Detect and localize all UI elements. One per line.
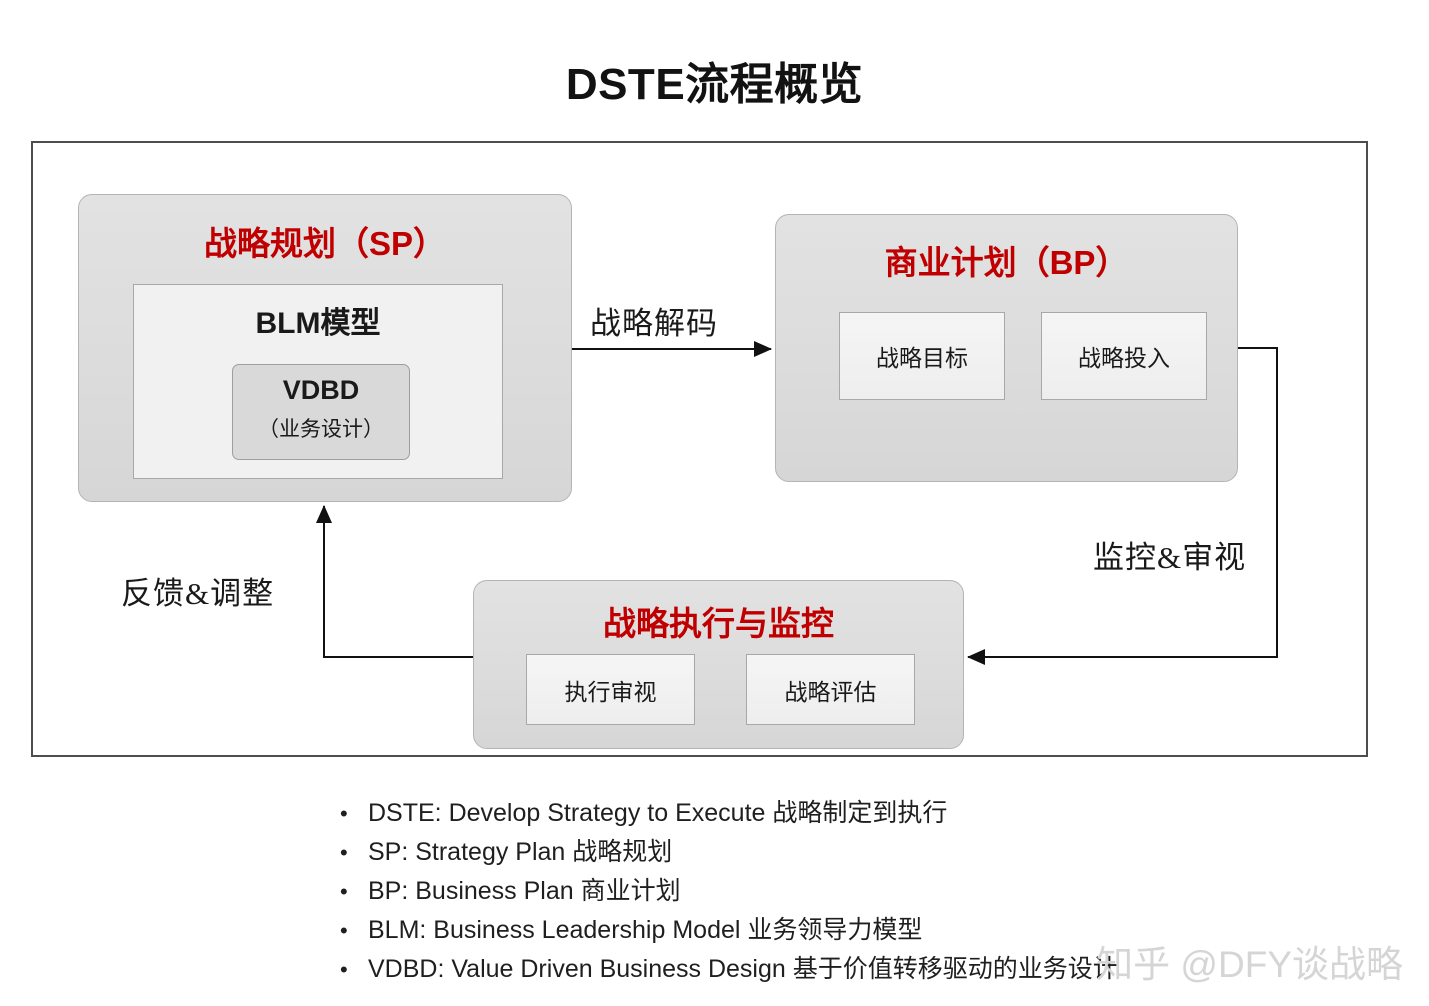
page-title: DSTE流程概览 xyxy=(0,48,1429,112)
blm-model-label: BLM模型 xyxy=(134,298,502,342)
legend-bullet-icon: • xyxy=(340,951,368,989)
connector-label-monitor-review: 监控&审视 xyxy=(1093,532,1246,577)
connector-label-feedback-adjust: 反馈&调整 xyxy=(121,568,274,613)
watermark: 知乎 @DFY谈战略 xyxy=(1096,934,1403,988)
box-strategy-planning[interactable]: 战略规划（SP） BLM模型 VDBD （业务设计） xyxy=(78,194,572,502)
connector-label-strategy-decoding: 战略解码 xyxy=(590,298,718,343)
box-sp-title: 战略规划（SP） xyxy=(79,217,571,265)
box-strategy-execution-monitoring[interactable]: 战略执行与监控 执行审视 战略评估 xyxy=(473,580,964,749)
legend-bullet-icon: • xyxy=(340,834,368,872)
box-exec-title: 战略执行与监控 xyxy=(474,597,963,645)
vdbd-sublabel: （业务设计） xyxy=(233,413,409,443)
legend-bullet-icon: • xyxy=(340,912,368,950)
box-blm-model[interactable]: BLM模型 VDBD （业务设计） xyxy=(133,284,503,479)
arrow-exec-to-sp xyxy=(324,506,473,657)
legend-item-text: BP: Business Plan 商业计划 xyxy=(368,872,681,910)
diagram-frame: 战略规划（SP） BLM模型 VDBD （业务设计） 商业计划（BP） 战略目标… xyxy=(31,141,1368,757)
legend-item-text: VDBD: Value Driven Business Design 基于价值转… xyxy=(368,950,1118,988)
legend-item: • DSTE: Develop Strategy to Execute 战略制定… xyxy=(340,794,1400,833)
box-business-plan[interactable]: 商业计划（BP） 战略目标 战略投入 xyxy=(775,214,1238,482)
box-vdbd[interactable]: VDBD （业务设计） xyxy=(232,364,410,460)
legend-bullet-icon: • xyxy=(340,795,368,833)
bp-item-strategic-goal[interactable]: 战略目标 xyxy=(839,312,1005,400)
legend-item: • SP: Strategy Plan 战略规划 xyxy=(340,833,1400,872)
exec-item-execution-review[interactable]: 执行审视 xyxy=(526,654,695,725)
legend-item: • BP: Business Plan 商业计划 xyxy=(340,872,1400,911)
vdbd-label: VDBD xyxy=(233,375,409,406)
legend-item-text: DSTE: Develop Strategy to Execute 战略制定到执… xyxy=(368,794,947,832)
exec-item-strategy-assessment[interactable]: 战略评估 xyxy=(746,654,915,725)
legend-item-text: SP: Strategy Plan 战略规划 xyxy=(368,833,672,871)
bp-item-strategic-investment[interactable]: 战略投入 xyxy=(1041,312,1207,400)
box-bp-title: 商业计划（BP） xyxy=(776,236,1237,284)
legend-item-text: BLM: Business Leadership Model 业务领导力模型 xyxy=(368,911,922,949)
legend-bullet-icon: • xyxy=(340,873,368,911)
